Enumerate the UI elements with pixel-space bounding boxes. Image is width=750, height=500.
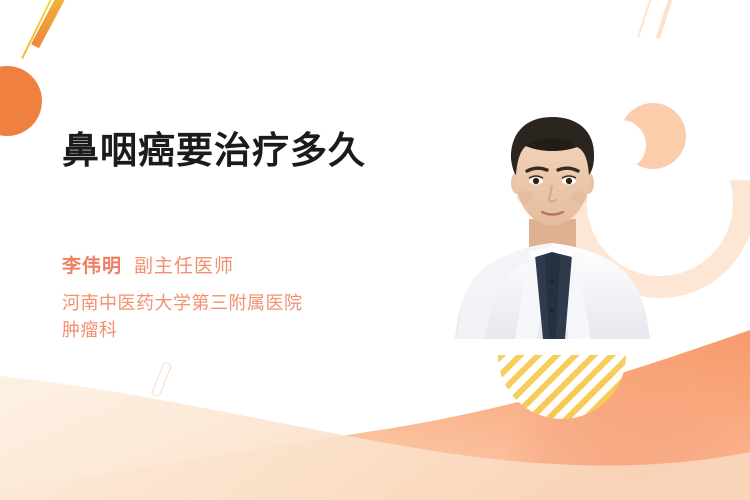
doctor-hospital: 河南中医药大学第三附属医院 — [62, 289, 303, 315]
doctor-portrait — [455, 101, 650, 339]
doctor-info-card: 鼻咽癌要治疗多久 李伟明副主任医师 河南中医药大学第三附属医院 肿瘤科 — [0, 0, 750, 500]
doctor-job-title: 副主任医师 — [134, 256, 234, 277]
page-title: 鼻咽癌要治疗多久 — [62, 120, 366, 174]
doctor-department: 肿瘤科 — [62, 316, 118, 342]
doctor-name: 李伟明 — [62, 256, 122, 277]
doctor-identity-line: 李伟明副主任医师 — [62, 251, 234, 278]
